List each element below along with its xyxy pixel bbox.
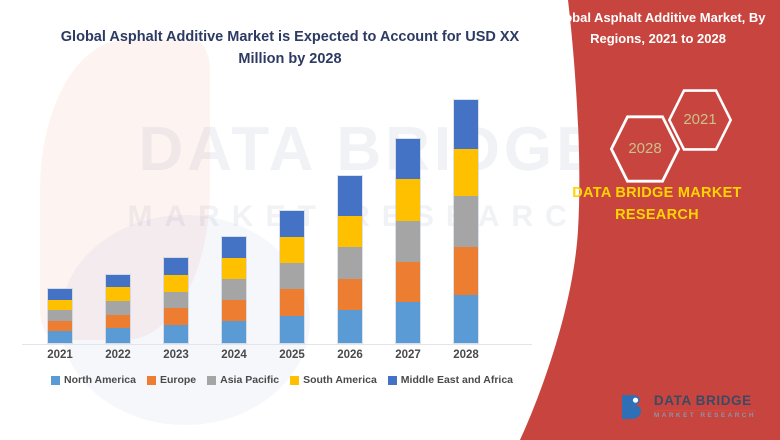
legend-item-north-america[interactable]: North America — [51, 374, 136, 386]
bar-2028 — [453, 99, 479, 344]
bar-segment — [338, 216, 362, 248]
bar-segment — [454, 295, 478, 343]
chart-legend: North AmericaEuropeAsia PacificSouth Ame… — [12, 374, 552, 386]
bar-segment — [48, 310, 72, 321]
bar-segment — [280, 237, 304, 263]
chart-plot-area — [0, 90, 560, 345]
bar-segment — [106, 301, 130, 315]
panel-brand-name: DATA BRIDGE MARKET RESEARCH — [534, 182, 780, 227]
bar-segment — [222, 279, 246, 300]
legend-item-middle-east-and-africa[interactable]: Middle East and Africa — [388, 374, 513, 386]
bar-segment — [106, 275, 130, 288]
footer-logo: DATA BRIDGE MARKET RESEARCH — [616, 392, 756, 422]
bar-2027 — [395, 138, 421, 344]
footer-logo-main: DATA BRIDGE — [654, 394, 756, 408]
footer-logo-rule — [654, 410, 756, 412]
legend-item-south-america[interactable]: South America — [290, 374, 377, 386]
x-axis-label-2023: 2023 — [154, 349, 198, 361]
bar-segment — [396, 221, 420, 262]
x-axis-label-2022: 2022 — [96, 349, 140, 361]
x-axis-labels: 20212022202320242025202620272028 — [0, 349, 560, 369]
legend-swatch — [51, 376, 60, 385]
bar-2022 — [105, 274, 131, 344]
bar-segment — [280, 316, 304, 343]
chart-baseline — [22, 344, 532, 345]
bar-segment — [338, 247, 362, 279]
bar-segment — [48, 300, 72, 311]
bar-segment — [396, 262, 420, 302]
x-axis-label-2024: 2024 — [212, 349, 256, 361]
x-axis-label-2027: 2027 — [386, 349, 430, 361]
bar-segment — [338, 176, 362, 216]
bar-2025 — [279, 210, 305, 344]
bar-segment — [280, 263, 304, 289]
bar-segment — [48, 321, 72, 332]
chart-title: Global Asphalt Additive Market is Expect… — [60, 26, 520, 71]
bar-segment — [222, 237, 246, 258]
hexagon-group: 2021 2028 — [590, 88, 780, 183]
legend-item-europe[interactable]: Europe — [147, 374, 196, 386]
hexagon-2028-label: 2028 — [628, 140, 661, 157]
footer-logo-sub: MARKET RESEARCH — [654, 413, 756, 420]
bar-segment — [48, 289, 72, 300]
legend-label: South America — [303, 374, 377, 386]
legend-label: Asia Pacific — [220, 374, 279, 386]
x-axis-label-2025: 2025 — [270, 349, 314, 361]
legend-swatch — [147, 376, 156, 385]
x-axis-label-2026: 2026 — [328, 349, 372, 361]
infographic-canvas: DATA BRIDGE MARKET RESEARCH Global Aspha… — [0, 0, 780, 440]
bar-segment — [164, 308, 188, 325]
panel-brand-line-1: DATA BRIDGE MARKET — [534, 182, 780, 204]
bar-segment — [454, 196, 478, 247]
legend-swatch — [290, 376, 299, 385]
bar-segment — [164, 258, 188, 275]
footer-logo-text: DATA BRIDGE MARKET RESEARCH — [654, 394, 756, 420]
legend-label: North America — [64, 374, 136, 386]
bar-segment — [48, 331, 72, 343]
bar-segment — [396, 139, 420, 179]
bar-segment — [164, 325, 188, 343]
bar-segment — [222, 321, 246, 343]
bar-segment — [454, 247, 478, 294]
hexagon-2028: 2028 — [610, 114, 680, 182]
panel-title: Global Asphalt Additive Market, By Regio… — [542, 8, 774, 50]
bar-segment — [106, 287, 130, 301]
bar-segment — [164, 275, 188, 292]
bar-segment — [106, 328, 130, 343]
legend-item-asia-pacific[interactable]: Asia Pacific — [207, 374, 279, 386]
legend-label: Middle East and Africa — [401, 374, 513, 386]
bar-segment — [222, 300, 246, 321]
legend-swatch — [207, 376, 216, 385]
bar-segment — [222, 258, 246, 279]
bar-segment — [338, 310, 362, 343]
legend-swatch — [388, 376, 397, 385]
bar-segment — [280, 289, 304, 315]
hexagon-2021-label: 2021 — [683, 111, 716, 128]
bar-2021 — [47, 288, 73, 344]
bar-segment — [338, 279, 362, 311]
bar-2024 — [221, 236, 247, 344]
bar-segment — [164, 292, 188, 309]
bar-2026 — [337, 175, 363, 344]
x-axis-label-2028: 2028 — [444, 349, 488, 361]
bar-segment — [106, 315, 130, 329]
panel-brand-line-2: RESEARCH — [534, 204, 780, 226]
bar-segment — [396, 302, 420, 343]
legend-label: Europe — [160, 374, 196, 386]
bar-segment — [454, 100, 478, 148]
bar-segment — [396, 179, 420, 221]
bar-segment — [280, 211, 304, 237]
bar-segment — [454, 149, 478, 196]
letter-b-icon — [616, 392, 646, 422]
right-panel: Global Asphalt Additive Market, By Regio… — [520, 0, 780, 440]
x-axis-label-2021: 2021 — [38, 349, 82, 361]
bar-2023 — [163, 257, 189, 344]
